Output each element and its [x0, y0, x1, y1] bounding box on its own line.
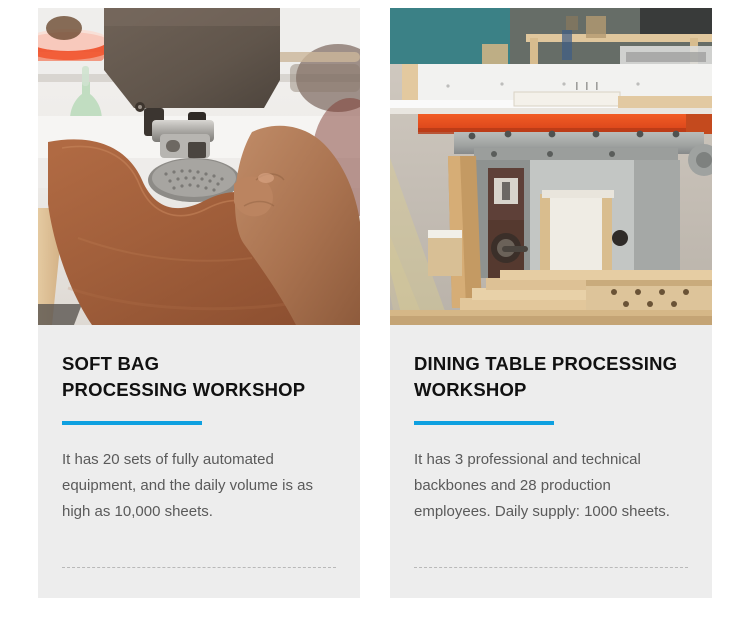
workshop-card-soft-bag[interactable]: SOFT BAGPROCESSING WORKSHOP It has 20 se… — [38, 8, 360, 598]
card-grid: SOFT BAGPROCESSING WORKSHOP It has 20 se… — [38, 8, 712, 598]
photo-illustration-sewing — [38, 8, 360, 325]
card-title-line-2: PROCESSING WORKSHOP — [62, 379, 305, 400]
card-body-dining-table: DINING TABLE PROCESSINGWORKSHOP It has 3… — [390, 325, 712, 598]
card-description-dining-table: It has 3 professional and technical back… — [414, 447, 688, 525]
card-title-soft-bag: SOFT BAGPROCESSING WORKSHOP — [62, 351, 336, 403]
card-title-line-2: WORKSHOP — [414, 379, 527, 400]
card-title-line-1: DINING TABLE PROCESSING — [414, 353, 677, 374]
card-description-soft-bag: It has 20 sets of fully automated equipm… — [62, 447, 336, 525]
card-title-line-1: SOFT BAG — [62, 353, 159, 374]
photo-illustration-woodshop — [390, 8, 712, 325]
workshop-card-dining-table[interactable]: DINING TABLE PROCESSINGWORKSHOP It has 3… — [390, 8, 712, 598]
soft-bag-sewing-machine-photo — [38, 8, 360, 325]
accent-underline-dining-table — [414, 421, 554, 425]
card-body-soft-bag: SOFT BAGPROCESSING WORKSHOP It has 20 se… — [38, 325, 360, 598]
workshop-cards-page: SOFT BAGPROCESSING WORKSHOP It has 20 se… — [0, 0, 750, 625]
card-dashed-divider-soft-bag — [62, 567, 336, 568]
card-dashed-divider-dining-table — [414, 567, 688, 568]
accent-underline-soft-bag — [62, 421, 202, 425]
woodworking-table-saw-machine-photo — [390, 8, 712, 325]
card-title-dining-table: DINING TABLE PROCESSINGWORKSHOP — [414, 351, 688, 403]
